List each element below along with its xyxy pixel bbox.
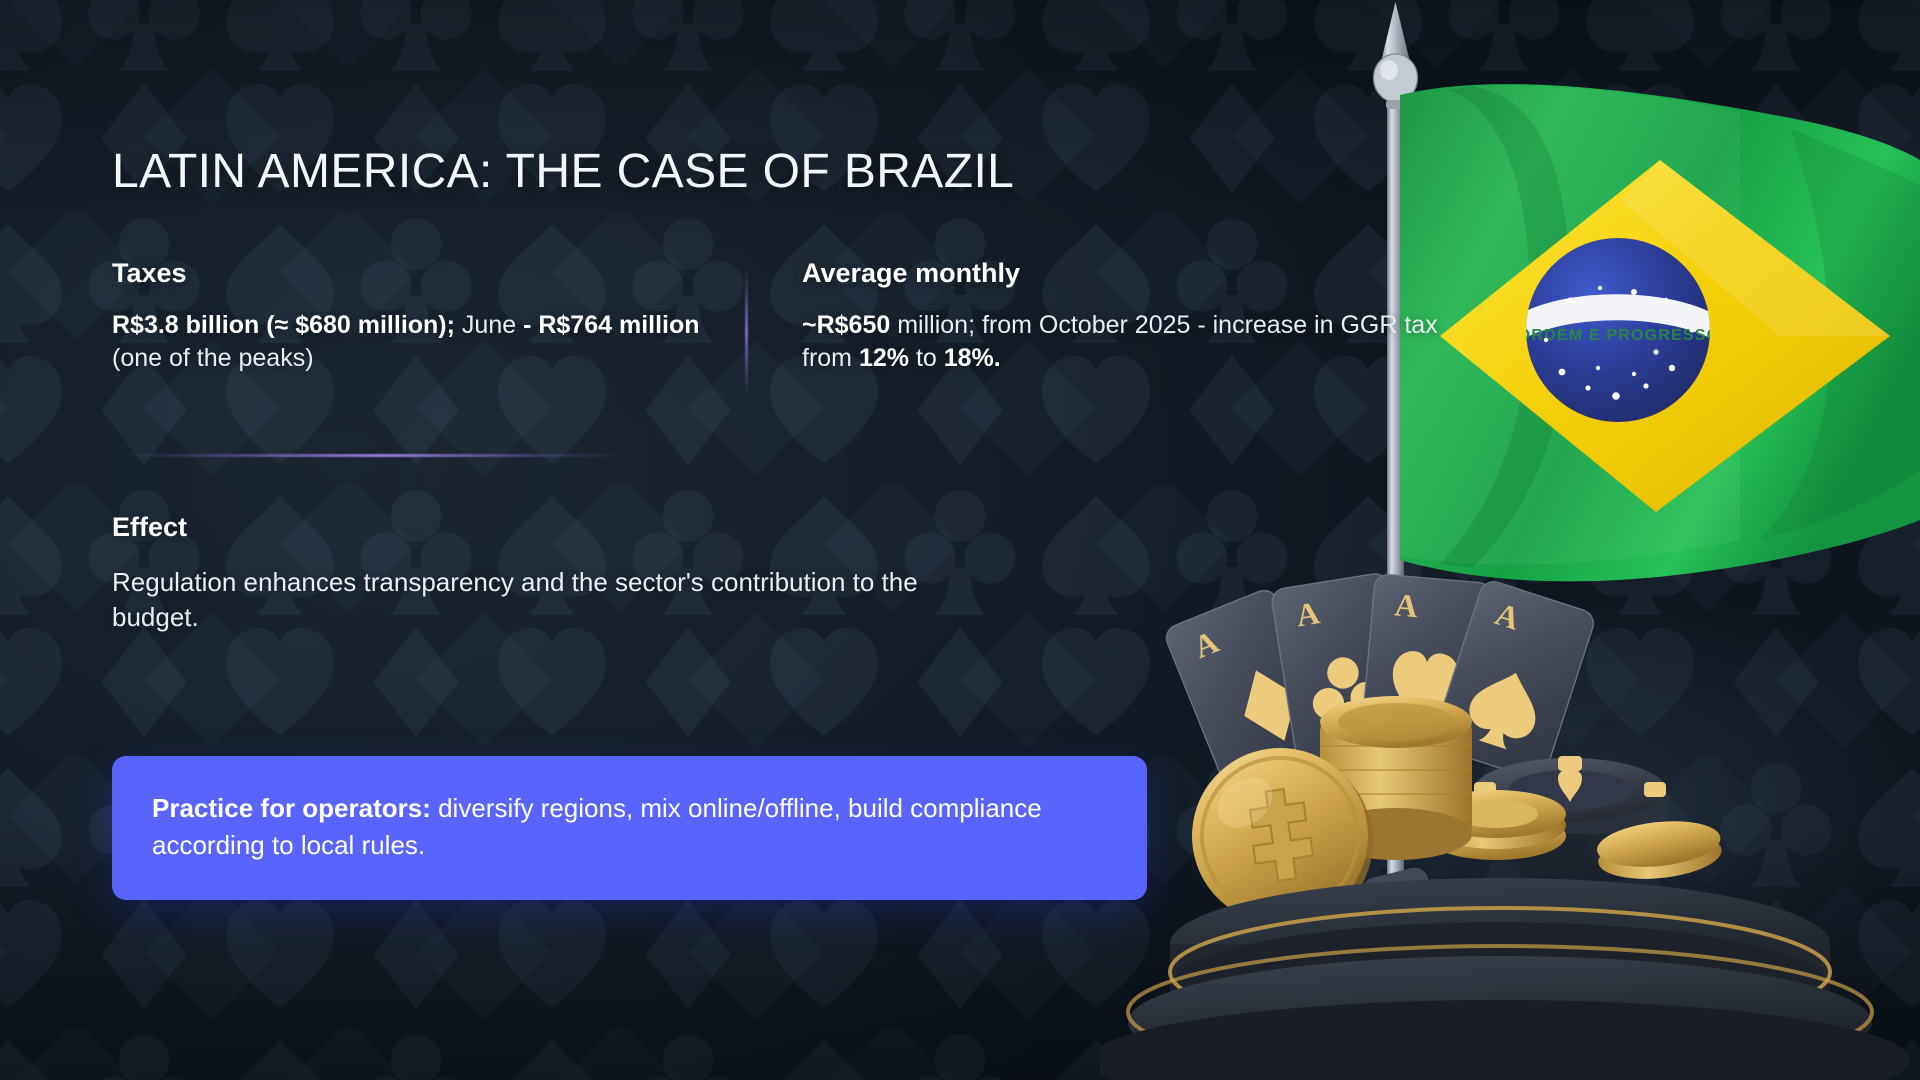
brazil-flag: ORDEM E PROGRESSO — [1400, 84, 1920, 581]
horizontal-divider — [112, 454, 632, 457]
column-average-monthly-body: ~R$650 million; from October 2025 - incr… — [802, 309, 1462, 376]
column-taxes-body: R$3.8 billion (≈ $680 million); June - R… — [112, 309, 712, 376]
effect-heading: Effect — [112, 512, 942, 543]
vertical-divider — [745, 268, 748, 396]
page-title: LATIN AMERICA: THE CASE OF BRAZIL — [112, 144, 1014, 199]
practice-callout-label: Practice for operators: — [152, 793, 431, 823]
column-taxes: Taxes R$3.8 billion (≈ $680 million); Ju… — [112, 258, 712, 376]
practice-callout-text: Practice for operators: diversify region… — [152, 790, 1107, 864]
svg-text:A: A — [1393, 586, 1419, 624]
effect-body: Regulation enhances transparency and the… — [112, 565, 942, 634]
column-average-monthly-heading: Average monthly — [802, 258, 1462, 289]
effect-section: Effect Regulation enhances transparency … — [112, 512, 942, 634]
practice-callout: Practice for operators: diversify region… — [112, 756, 1147, 900]
column-taxes-heading: Taxes — [112, 258, 712, 289]
slide-content: LATIN AMERICA: THE CASE OF BRAZIL Taxes … — [0, 0, 1250, 1080]
slide-root: ORDEM E PROGRESSO — [0, 0, 1920, 1080]
column-average-monthly: Average monthly ~R$650 million; from Oct… — [802, 258, 1462, 376]
